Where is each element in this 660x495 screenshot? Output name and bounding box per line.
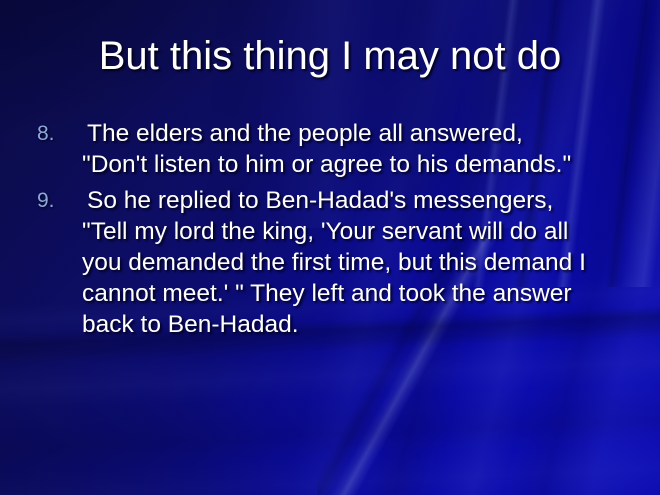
slide-title: But this thing I may not do [0,32,660,80]
text-line: you demanded the first time, but this de… [82,247,642,278]
list-item-number: 8. [30,118,82,149]
presentation-slide: But this thing I may not do 8. The elder… [0,0,660,495]
slide-content: But this thing I may not do 8. The elder… [0,0,660,495]
list-item: 9. So he replied to Ben-Hadad's messenge… [30,185,642,340]
text-line: back to Ben-Hadad. [82,309,642,340]
list-item: 8. The elders and the people all answere… [30,118,642,180]
text-line: cannot meet.' " They left and took the a… [82,278,642,309]
text-line: "Don't listen to him or agree to his dem… [82,149,642,180]
text-line: The elders and the people all answered, [82,118,642,149]
text-line: So he replied to Ben-Hadad's messengers, [82,185,642,216]
list-item-number: 9. [30,185,82,216]
list-item-text: The elders and the people all answered, … [82,118,642,180]
numbered-list: 8. The elders and the people all answere… [30,118,642,345]
list-item-text: So he replied to Ben-Hadad's messengers,… [82,185,642,340]
text-line: "Tell my lord the king, 'Your servant wi… [82,216,642,247]
